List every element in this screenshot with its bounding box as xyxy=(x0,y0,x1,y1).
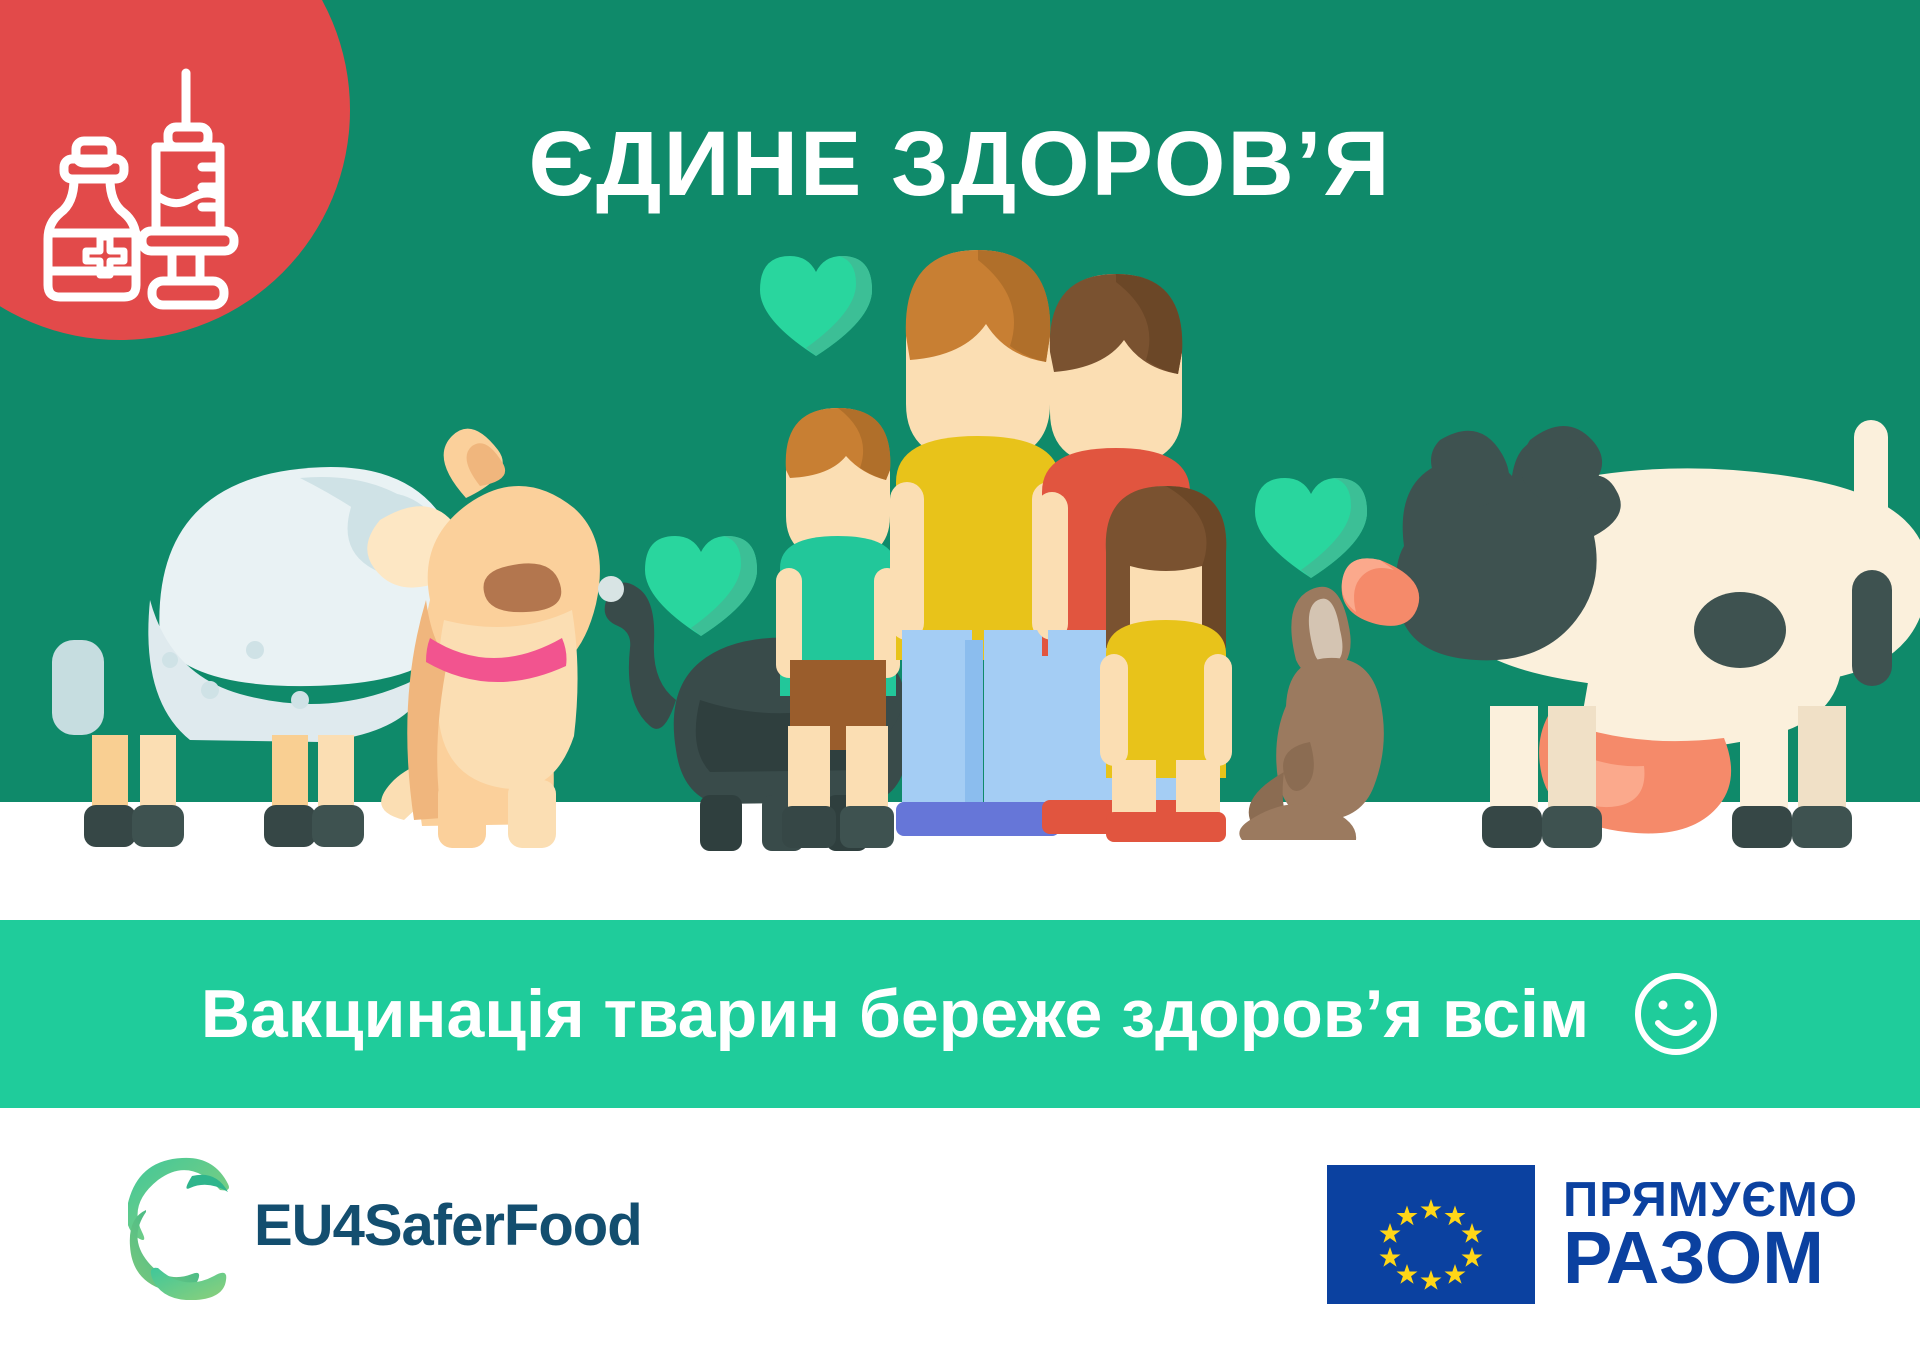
eu4saferfood-logo[interactable]: EU4SaferFood xyxy=(128,1150,642,1300)
poster-canvas: ЄДИНЕ ЗДОРОВ’Я Вакцинація тварин береже … xyxy=(0,0,1920,1348)
smiley-face-icon xyxy=(1633,971,1719,1057)
heart-icon xyxy=(1255,478,1367,578)
eu-together-line2: РАЗОМ xyxy=(1563,1223,1858,1293)
eu4saferfood-swirl-icon xyxy=(128,1150,240,1300)
eu-together-logo[interactable]: ПРЯМУЄМО РАЗОМ xyxy=(1327,1165,1858,1304)
eu-together-wordmark: ПРЯМУЄМО РАЗОМ xyxy=(1563,1177,1858,1293)
heart-icon xyxy=(760,256,872,356)
rabbit-illustration xyxy=(1239,587,1384,840)
tagline-text: Вакцинація тварин береже здоров’я всім xyxy=(201,975,1589,1053)
page-title: ЄДИНЕ ЗДОРОВ’Я xyxy=(0,118,1920,210)
eu-flag-icon xyxy=(1327,1165,1535,1304)
tagline-banner: Вакцинація тварин береже здоров’я всім xyxy=(0,920,1920,1108)
eu4saferfood-wordmark: EU4SaferFood xyxy=(254,1192,642,1259)
cow-illustration xyxy=(1342,420,1920,848)
heart-icon xyxy=(645,536,757,636)
